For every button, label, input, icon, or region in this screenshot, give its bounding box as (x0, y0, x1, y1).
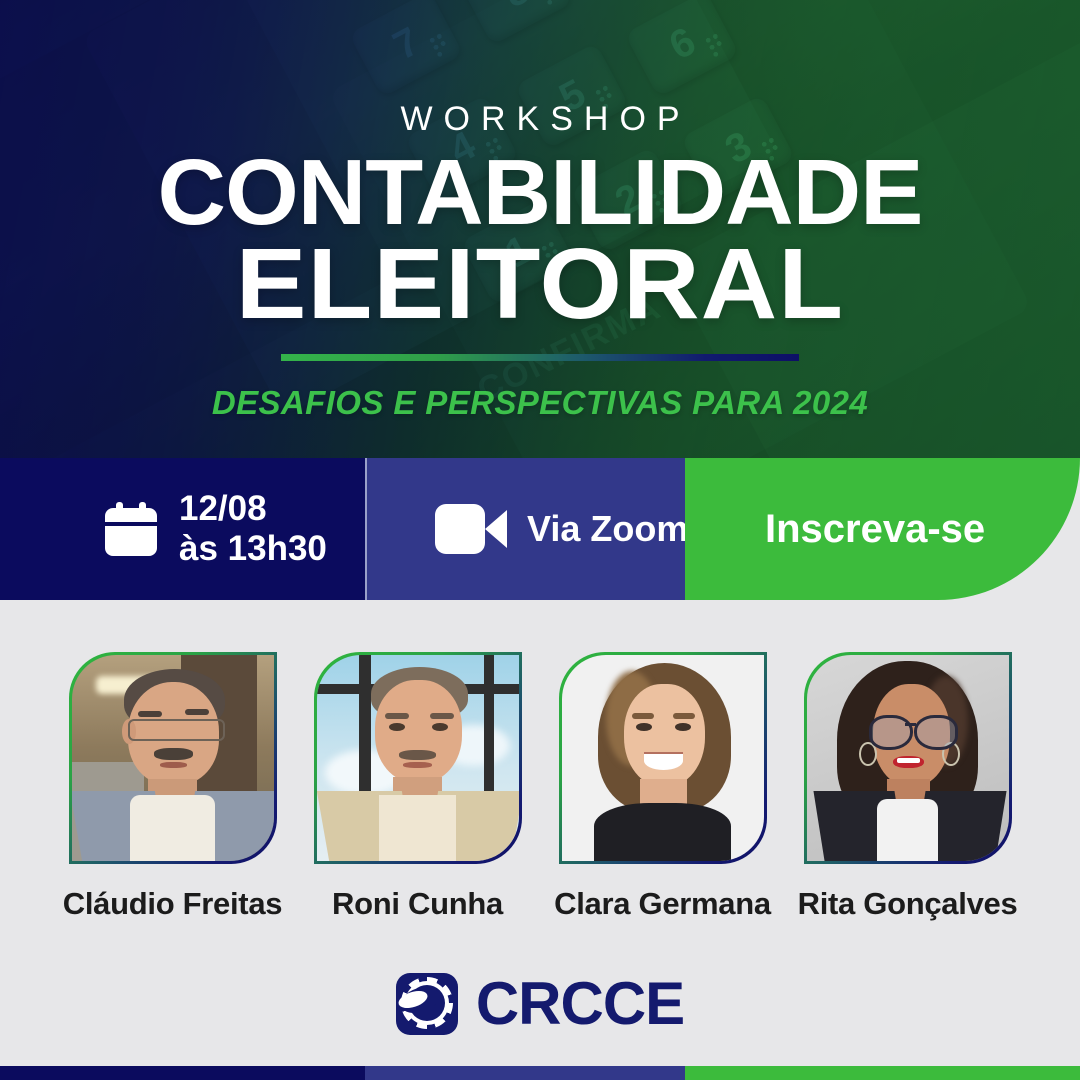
platform-label: Via Zoom (527, 508, 688, 550)
video-camera-icon (435, 504, 507, 554)
speakers-section: Cláudio Freitas Roni Cunha (0, 600, 1080, 950)
event-date: 12/08 (179, 489, 327, 529)
footer-stripe-blue (365, 1066, 685, 1080)
speaker-photo-frame (804, 652, 1012, 864)
brand-logo: CRCCE (0, 950, 1080, 1058)
poster-root: 7 8 9 4 5 6 1 2 3 CONFIRMA WORKSHOP CONT… (0, 0, 1080, 1080)
date-segment: 12/08 às 13h30 (0, 458, 365, 600)
speaker-name: Cláudio Freitas (63, 886, 282, 922)
title-divider (281, 354, 799, 361)
register-button[interactable]: Inscreva-se (685, 458, 1080, 600)
platform-segment: Via Zoom (365, 458, 685, 600)
speaker-photo-frame (559, 652, 767, 864)
speaker-portrait (562, 655, 764, 861)
speaker-name: Rita Gonçalves (798, 886, 1018, 922)
eyebrow-label: WORKSHOP (389, 102, 690, 136)
hero-banner: 7 8 9 4 5 6 1 2 3 CONFIRMA WORKSHOP CONT… (0, 0, 1080, 458)
footer-stripe-green (685, 1066, 1080, 1080)
event-datetime: 12/08 às 13h30 (179, 489, 327, 569)
speaker-portrait (72, 655, 274, 861)
speaker-name: Roni Cunha (332, 886, 503, 922)
speaker-photo-frame (69, 652, 277, 864)
speaker-card: Roni Cunha (295, 652, 540, 922)
page-title-line-2: ELEITORAL (236, 238, 844, 330)
hero-content: WORKSHOP CONTABILIDADE ELEITORAL DESAFIO… (0, 0, 1080, 458)
speaker-photo-frame (314, 652, 522, 864)
speaker-card: Rita Gonçalves (785, 652, 1030, 922)
speaker-card: Clara Germana (540, 652, 785, 922)
speaker-portrait (807, 655, 1009, 861)
brand-logo-text: CRCCE (476, 974, 684, 1034)
event-time: às 13h30 (179, 529, 327, 569)
subtitle-label: DESAFIOS E PERSPECTIVAS PARA 2024 (212, 384, 868, 422)
info-bar: 12/08 às 13h30 Via Zoom Inscreva-se (0, 458, 1080, 600)
footer-stripe (0, 1066, 1080, 1080)
crcce-gear-logo-icon (396, 973, 458, 1035)
page-title-line-1: CONTABILIDADE (158, 150, 923, 236)
register-button-label: Inscreva-se (765, 507, 985, 552)
footer-stripe-navy (0, 1066, 365, 1080)
calendar-icon (105, 502, 157, 556)
speaker-name: Clara Germana (554, 886, 771, 922)
speaker-portrait (317, 655, 519, 861)
speaker-card: Cláudio Freitas (50, 652, 295, 922)
